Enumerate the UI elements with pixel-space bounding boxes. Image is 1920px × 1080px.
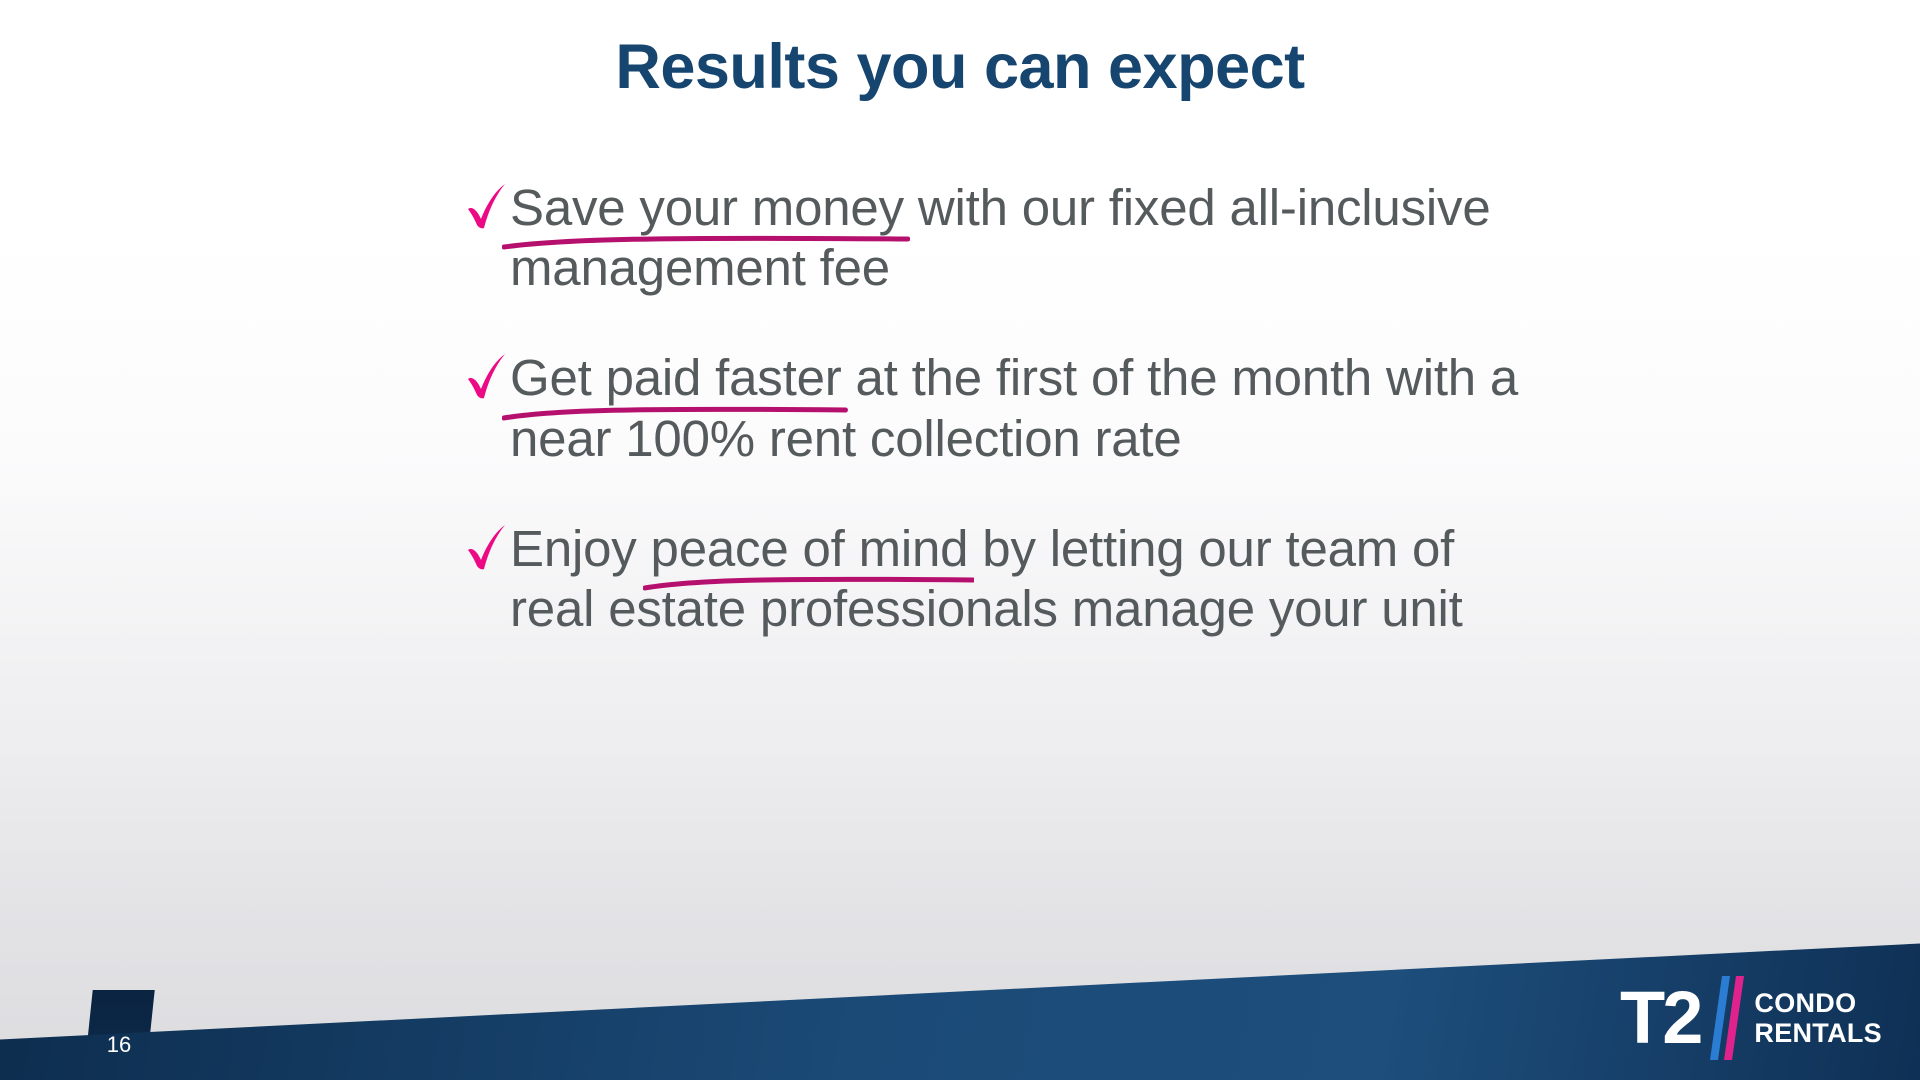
- highlight-label: Get paid faster: [510, 349, 842, 406]
- double-slash-icon: [1708, 976, 1744, 1060]
- check-icon: [464, 182, 510, 232]
- highlight-label: peace of mind: [651, 520, 969, 577]
- logo-mark-t2: T2: [1620, 985, 1700, 1050]
- slide-canvas: Results you can expect Save your money w…: [0, 0, 1920, 1080]
- list-item-prefix: Enjoy: [510, 520, 651, 577]
- check-icon: [464, 523, 510, 573]
- list-item-text: Get paid faster at the first of the mont…: [510, 348, 1528, 468]
- logo-wordmark: CONDO RENTALS: [1754, 988, 1882, 1048]
- highlight-label: Save your money: [510, 179, 904, 236]
- page-number: 16: [88, 1032, 150, 1058]
- highlighted-phrase: peace of mind: [651, 519, 969, 579]
- list-item-text: Enjoy peace of mind by letting our team …: [510, 519, 1528, 639]
- list-item: Enjoy peace of mind by letting our team …: [468, 519, 1528, 639]
- highlighted-phrase: Get paid faster: [510, 348, 842, 408]
- list-item: Save your money with our fixed all-inclu…: [468, 178, 1528, 298]
- bullet-list: Save your money with our fixed all-inclu…: [468, 178, 1528, 689]
- list-item: Get paid faster at the first of the mont…: [468, 348, 1528, 468]
- logo-word-condo: CONDO: [1754, 988, 1882, 1018]
- list-item-text: Save your money with our fixed all-inclu…: [510, 178, 1528, 298]
- highlighted-phrase: Save your money: [510, 178, 904, 238]
- check-icon: [464, 352, 510, 402]
- logo-word-rentals: RENTALS: [1754, 1018, 1882, 1048]
- page-title: Results you can expect: [0, 36, 1920, 99]
- brand-logo: T2 CONDO RENTALS: [1620, 972, 1882, 1064]
